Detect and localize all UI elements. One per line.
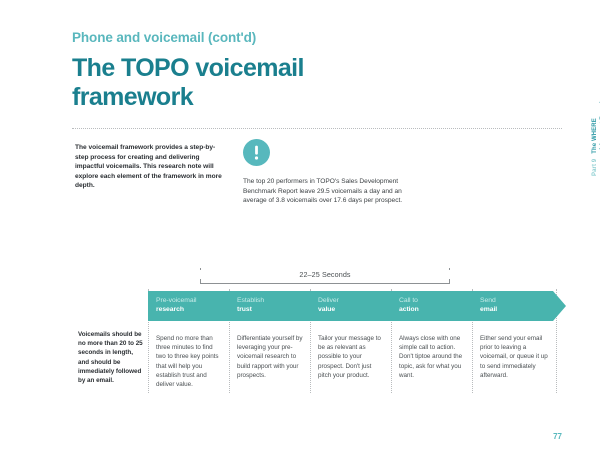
running-head-title: The WHEREof Account BasedSales Developme… xyxy=(592,97,600,154)
page-number: 77 xyxy=(553,432,562,441)
running-head-part: Part 9 xyxy=(592,159,600,176)
timing-label: 22–25 Seconds xyxy=(293,270,356,279)
stage-chevron[interactable]: Establish trust xyxy=(229,291,323,321)
timing-label-wrap: 22–25 Seconds xyxy=(200,270,450,279)
stage-body: Always close with one simple call to act… xyxy=(399,334,465,380)
stage-body: Differentiate yourself by leveraging you… xyxy=(237,334,303,380)
stage-chevron[interactable]: Deliver value xyxy=(310,291,404,321)
stage-body: Spend no more than three minutes to find… xyxy=(156,334,222,389)
stage-chevron[interactable]: Send email xyxy=(472,291,566,321)
callout-text: The top 20 performers in TOPO's Sales De… xyxy=(243,177,413,206)
section-kicker: Phone and voicemail (cont'd) xyxy=(72,30,256,45)
stage-chevron-row: Pre-voicemail research Establish trust D… xyxy=(148,291,588,321)
stage-chevron[interactable]: Call to action xyxy=(391,291,485,321)
bracket-line xyxy=(200,283,450,284)
timing-bracket: 22–25 Seconds xyxy=(200,262,450,284)
stage-body: Tailor your message to be as relevant as… xyxy=(318,334,384,380)
stage-body: Either send your email prior to leaving … xyxy=(480,334,552,380)
stage-label-bottom: email xyxy=(480,305,566,315)
running-head: Part 9 The WHEREof Account BasedSales De… xyxy=(548,18,592,138)
exclamation-circle-icon xyxy=(243,139,270,166)
callout-box: The top 20 performers in TOPO's Sales De… xyxy=(243,139,413,206)
aside-note: Voicemails should be no more than 20 to … xyxy=(78,330,144,385)
stage-label-top: Send xyxy=(480,296,566,305)
header-divider xyxy=(72,128,562,130)
intro-paragraph: The voicemail framework provides a step-… xyxy=(75,143,227,191)
page-title: The TOPO voicemail framework xyxy=(72,54,402,112)
slide-page: Phone and voicemail (cont'd) The TOPO vo… xyxy=(0,0,600,463)
stage-chevron[interactable]: Pre-voicemail research xyxy=(148,291,242,321)
